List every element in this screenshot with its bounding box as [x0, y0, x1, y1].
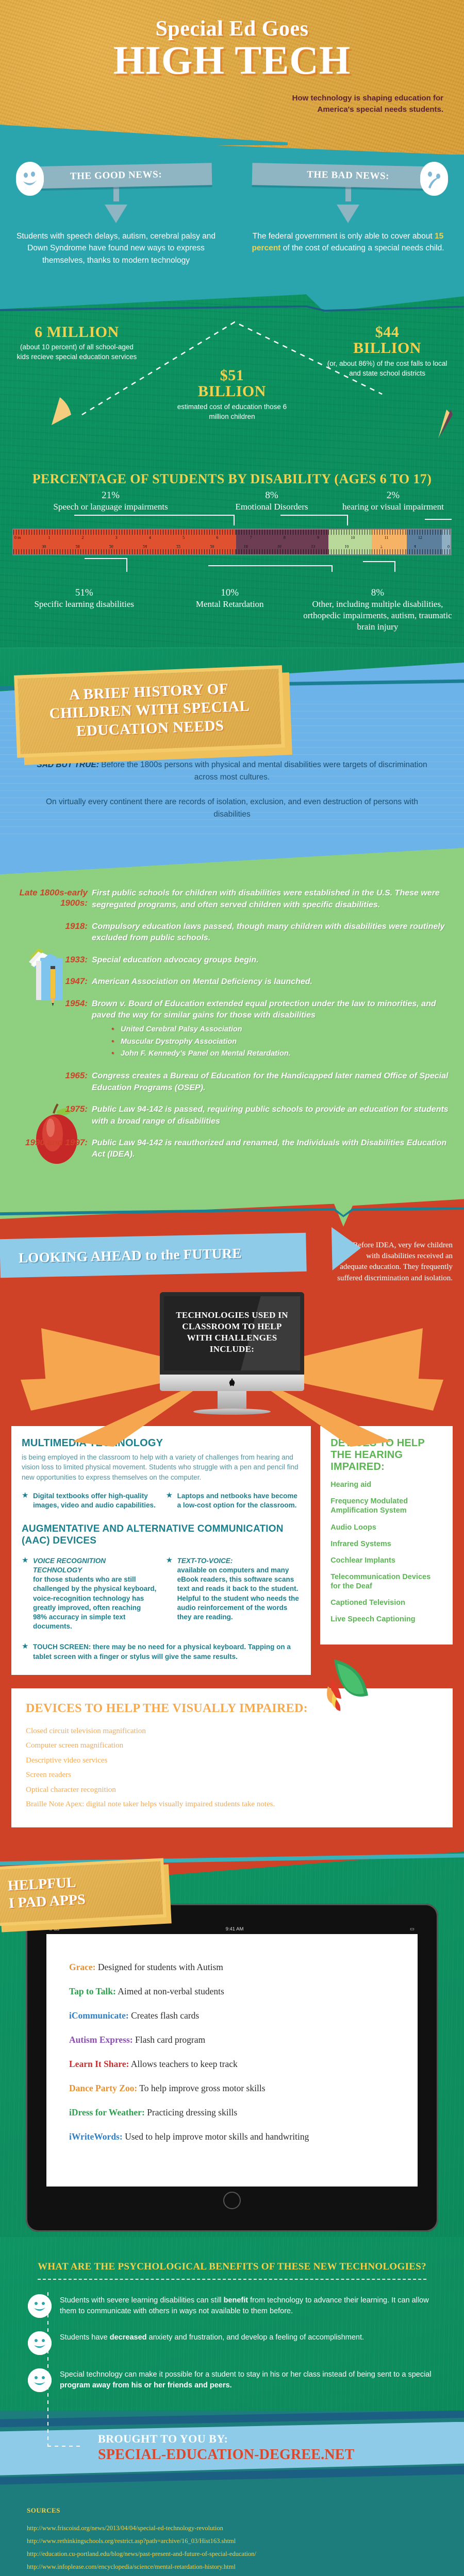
- label-hearing-visual: 2% hearing or visual impairment: [334, 490, 453, 512]
- hearing-devices-card: DEVICES TO HELP THE HEARING IMPAIRED: He…: [320, 1426, 453, 1645]
- ruler-num: 4: [148, 535, 181, 541]
- ruler-segment-emotional-disorders: [372, 530, 407, 554]
- bad-news-arrow-icon: [337, 205, 359, 223]
- ipad-plaque: HELPFUL I PAD APPS: [0, 1862, 165, 1922]
- pct-hearing-visual: 2%: [334, 490, 453, 501]
- app-desc: Practicing dressing skills: [145, 2107, 237, 2117]
- app-name: iCommunicate:: [69, 2010, 129, 2021]
- app-desc: Designed for students with Autism: [96, 1962, 223, 1972]
- timeline-subitem: United Cerebral Palsy Association: [109, 1024, 451, 1035]
- bad-news-text-before: The federal government is only able to c…: [253, 232, 435, 241]
- multimedia-bullet-text: Laptops and netbooks have become a low-c…: [177, 1492, 301, 1510]
- ruler-num: 3: [114, 535, 148, 541]
- subtitle-line-2: America's special needs students.: [0, 104, 443, 115]
- timeline-year: 1954:: [13, 998, 92, 1061]
- looking-ahead-row: LOOKING AHEAD to the FUTURE Before IDEA,…: [0, 1236, 464, 1284]
- page-subtitle: How technology is shaping education for …: [0, 93, 464, 115]
- label-specific-learning: 51% Specific learning disabilities: [11, 587, 157, 632]
- page-title-line2: HIGH TECH: [0, 41, 464, 79]
- ruler-segment-other: [407, 530, 442, 554]
- benefit-item: Special technology can make it possible …: [28, 2368, 436, 2392]
- source-item[interactable]: http://wwfinductionmodules-resources.wik…: [27, 2573, 437, 2576]
- visual-item: Closed circuit television magnification: [26, 1724, 438, 1739]
- stat-51-billion: $51 BILLION estimated cost of education …: [169, 324, 295, 456]
- timeline-subitem: John F. Kennedy's Panel on Mental Retard…: [109, 1048, 451, 1059]
- multimedia-bullet: ★ Digital textbooks offer high-quality i…: [22, 1492, 157, 1510]
- ruler-ticks-top: [328, 530, 372, 535]
- pie-chart-right: [423, 409, 459, 468]
- timeline-text: Public Law 94-142 is reauthorized and re…: [92, 1138, 451, 1161]
- name-specific-learning: Specific learning disabilities: [11, 599, 157, 610]
- ipad-status-time: 9:41 AM: [226, 1926, 244, 1932]
- ruler-ticks-top: [236, 530, 328, 535]
- visual-item: Descriptive video services: [26, 1753, 438, 1768]
- ruler-segment-hearing-visual: [442, 530, 451, 554]
- visual-item: Optical character recognition: [26, 1783, 438, 1798]
- hearing-item: Infrared Systems: [330, 1539, 442, 1549]
- ipad-plaque-front: HELPFUL I PAD APPS: [0, 1858, 167, 1926]
- ruler-num: 4: [384, 543, 417, 549]
- ruler-num: 16: [249, 543, 283, 549]
- pct-mental-retardation: 10%: [157, 587, 302, 599]
- future-top-wedge: [0, 1192, 464, 1239]
- history-paragraph-1: SAD BUT TRUE: Before the 1800s persons w…: [31, 759, 433, 784]
- ruler-num: 1: [47, 535, 80, 541]
- multimedia-lead: is being employed in the classroom to he…: [22, 1452, 301, 1482]
- ipad-apps-section: HELPFUL I PAD APPS iPad 9:41 AM ▭ Grace:…: [0, 1841, 464, 2237]
- good-news-column: THE GOOD NEWS: Students with speech dela…: [14, 165, 218, 266]
- stat-44-billion-number-1: $44: [324, 324, 451, 341]
- aac-heading: AUGMENTATIVE AND ALTERNATIVE COMMUNICATI…: [22, 1523, 301, 1547]
- timeline-item: Late 1800s-early 1900s: First public sch…: [13, 888, 451, 911]
- app-name: Grace:: [69, 1962, 96, 1972]
- disability-ruler-bar: 0 in123456789101112 30282624222018161310…: [12, 529, 452, 555]
- ruler-ticks-top: [442, 530, 451, 535]
- imac-foot: [193, 1409, 271, 1415]
- timeline-year: 1990 and 1997:: [13, 1138, 92, 1161]
- timeline-year: Late 1800s-early 1900s:: [13, 888, 92, 911]
- app-list-item: Learn It Share: Allows teachers to keep …: [69, 2059, 395, 2070]
- app-desc: Creates flash cards: [129, 2010, 200, 2021]
- brought-text: BROUGHT TO YOU BY: SPECIAL-EDUCATION-DEG…: [98, 2432, 355, 2463]
- stat-44-billion-desc: (or, about 86%) of the cost falls to loc…: [324, 359, 451, 378]
- timeline-text: Brown v. Board of Education extended equ…: [92, 998, 451, 1061]
- ruler-segment-speech-language: [236, 530, 328, 554]
- dashed-vertical-line: [47, 2292, 48, 2447]
- app-list-item: Tap to Talk: Aimed at non-verbal student…: [69, 1986, 395, 1997]
- visual-devices-card: DEVICES TO HELP THE VISUALLY IMPAIRED: C…: [11, 1688, 453, 1827]
- multimedia-bullet: ★ Laptops and netbooks have become a low…: [166, 1492, 301, 1510]
- ruler-num: 9: [316, 535, 350, 541]
- ruler-num: 0: [417, 543, 451, 549]
- ruler-num: 0 in: [13, 535, 47, 541]
- timeline-text: American Association on Mental Deficienc…: [92, 976, 451, 988]
- ruler-ticks-top: [13, 530, 236, 535]
- hearing-item: Audio Loops: [330, 1523, 442, 1532]
- ruler-numbers-top: 0 in123456789101112: [13, 535, 451, 541]
- history-paragraph-2: On virtually every continent there are r…: [31, 796, 433, 821]
- imac-screen-text: TECHNOLOGIES USED IN CLASSROOM TO HELP W…: [160, 1292, 304, 1375]
- chalkboard-stats-section: 6 MILLION (about 10 percent) of all scho…: [0, 285, 464, 648]
- ruler-ticks-top: [407, 530, 442, 535]
- timeline-item: 1918: Compulsory education laws passed, …: [13, 921, 451, 944]
- aac-bullet-title: TEXT-TO-VOICE:: [177, 1556, 301, 1566]
- star-icon: ★: [22, 1642, 29, 1661]
- app-desc: Aimed at non-verbal students: [116, 1986, 224, 1996]
- subtitle-line-1: How technology is shaping education for: [0, 93, 443, 104]
- benefit-text-bold: benefit: [224, 2296, 248, 2304]
- before-idea-note: Before IDEA, very few children with disa…: [306, 1236, 464, 1284]
- ruler-num: 18: [215, 543, 248, 549]
- stat-6-million-number: 6 MILLION: [13, 324, 140, 341]
- benefit-text: Students with severe learning disabiliti…: [60, 2294, 436, 2318]
- ruler-num: 24: [114, 543, 148, 549]
- smiley-face-icon: [16, 162, 44, 196]
- history-title-line3: EDUCATION NEEDS: [76, 717, 224, 739]
- timeline-text: Public Law 94-142 is passed, requiring p…: [92, 1104, 451, 1127]
- technology-cards: MULTIMEDIA TECHNOLOGY is being employed …: [0, 1415, 464, 1675]
- app-list-item: iDress for Weather: Practicing dressing …: [69, 2107, 395, 2118]
- app-list-item: Autism Express: Flash card program: [69, 2035, 395, 2045]
- timeline-item: 1965: Congress creates a Bureau of Educa…: [13, 1071, 451, 1094]
- pie-chart-left: [18, 394, 79, 464]
- good-news-text: Students with speech delays, autism, cer…: [14, 230, 218, 266]
- ruler-num: 10: [350, 535, 383, 541]
- star-icon: ★: [22, 1556, 29, 1632]
- ruler-numbers-bottom: 30282624222018161310740: [13, 543, 451, 549]
- imac-illustration: TECHNOLOGIES USED IN CLASSROOM TO HELP W…: [160, 1292, 304, 1415]
- app-name: Dance Party Zoo:: [69, 2083, 137, 2093]
- source-item[interactable]: http://www.infoplease.com/encyclopedia/s…: [27, 2561, 437, 2573]
- ruler-ticks-top: [372, 530, 407, 535]
- ruler-ticks-bottom: [442, 549, 451, 554]
- star-icon: ★: [166, 1556, 173, 1632]
- app-desc: Flash card program: [133, 2035, 205, 2045]
- aac-bullet: ★ VOICE RECOGNITION TECHNOLOGYfor those …: [22, 1556, 157, 1632]
- ruler-ticks-bottom: [372, 549, 407, 554]
- ruler-num: 22: [148, 543, 181, 549]
- bad-news-label: THE BAD NEWS:: [252, 163, 444, 189]
- stat-44-billion-number-2: BILLION: [324, 340, 451, 357]
- ruler-num: 6: [215, 535, 248, 541]
- timeline-text: Special education advocacy groups begin.: [92, 955, 451, 966]
- ruler-num: 7: [350, 543, 383, 549]
- hearing-item: Cochlear Implants: [330, 1556, 442, 1565]
- looking-ahead-label: LOOKING AHEAD to the FUTURE: [19, 1245, 242, 1265]
- source-item[interactable]: http://www.rethinkingschools.org/restric…: [27, 2535, 437, 2548]
- ruler-num: 2: [80, 535, 114, 541]
- top-connector-lines: [12, 512, 452, 526]
- app-desc: Allows teachers to keep track: [129, 2059, 237, 2069]
- hearing-item: Live Speech Captioning: [330, 1615, 442, 1624]
- ruler-segment-specific-learning: [13, 530, 236, 554]
- brought-brand[interactable]: SPECIAL-EDUCATION-DEGREE.NET: [98, 2447, 355, 2463]
- benefit-text: Students have decreased anxiety and frus…: [60, 2331, 364, 2344]
- visual-item: Screen readers: [26, 1768, 438, 1783]
- good-news-arrow-stem: [113, 187, 119, 201]
- timeline-item: 1947: American Association on Mental Def…: [13, 976, 451, 988]
- chalkboard-top-wedge: [0, 285, 464, 317]
- aac-bullet-title: VOICE RECOGNITION TECHNOLOGY: [33, 1556, 157, 1575]
- ruler-ticks-bottom: [236, 549, 328, 554]
- news-row: THE GOOD NEWS: Students with speech dela…: [0, 165, 464, 266]
- app-name: Learn It Share:: [69, 2059, 129, 2069]
- app-name: iDress for Weather:: [69, 2107, 145, 2117]
- multimedia-card: MULTIMEDIA TECHNOLOGY is being employed …: [11, 1426, 311, 1675]
- hearing-item: Frequency Modulated Amplification System: [330, 1497, 442, 1515]
- bad-news-column: THE BAD NEWS: The federal government is …: [246, 165, 450, 266]
- touch-screen-text: TOUCH SCREEN: there may be no need for a…: [33, 1642, 301, 1661]
- ipad-plaque-line1: HELPFUL: [7, 1874, 76, 1894]
- news-section: THE GOOD NEWS: Students with speech dela…: [0, 155, 464, 285]
- timeline-text-main: Brown v. Board of Education extended equ…: [92, 999, 436, 1020]
- timeline-sublist: United Cerebral Palsy Association Muscul…: [109, 1024, 451, 1059]
- rocket-icon: [319, 1655, 375, 1720]
- page-title-line1: Special Ed Goes: [0, 0, 464, 41]
- multimedia-bullets: ★ Digital textbooks offer high-quality i…: [22, 1492, 301, 1510]
- sources-list: http://www.friscoisd.org/news/2013/04/04…: [27, 2522, 437, 2576]
- benefits-section: WHAT ARE THE PSYCHOLOGICAL BENEFITS OF T…: [0, 2237, 464, 2411]
- imac-chin-with-apple-logo-icon: [160, 1375, 304, 1391]
- ruler-ticks-bottom: [328, 549, 372, 554]
- future-section: LOOKING AHEAD to the FUTURE Before IDEA,…: [0, 1192, 464, 1841]
- stat-51-billion-number-2: BILLION: [169, 383, 295, 400]
- ipad-device: iPad 9:41 AM ▭ Grace: Designed for stude…: [26, 1904, 438, 2232]
- timeline-year: 1965:: [13, 1071, 92, 1094]
- ipad-screen: Grace: Designed for students with Autism…: [46, 1934, 418, 2187]
- timeline-year: 1918:: [13, 921, 92, 944]
- timeline-year: 1933:: [13, 955, 92, 966]
- ruler-num: 20: [181, 543, 215, 549]
- stat-51-billion-number-1: $51: [169, 367, 295, 384]
- pct-other: 8%: [303, 587, 453, 599]
- timeline-year: 1947:: [13, 976, 92, 988]
- benefit-text-before: Students with severe learning disabiliti…: [60, 2296, 224, 2304]
- ruler-segment-mental-retardation: [328, 530, 372, 554]
- ruler-num: 5: [181, 535, 215, 541]
- hearing-item: Telecommunication Devices for the Deaf: [330, 1572, 442, 1591]
- ruler-num: 7: [249, 535, 283, 541]
- history-plaque: A BRIEF HISTORY OF CHILDREN WITH SPECIAL…: [15, 670, 284, 753]
- imac-wrapper: TECHNOLOGIES USED IN CLASSROOM TO HELP W…: [0, 1292, 464, 1415]
- app-desc: To help improve gross motor skills: [137, 2083, 265, 2093]
- benefit-text: Special technology can make it possible …: [60, 2368, 436, 2392]
- aac-bullet-body: VOICE RECOGNITION TECHNOLOGYfor those st…: [33, 1556, 157, 1632]
- label-emotional-disorders: 8% Emotional Disorders: [210, 490, 334, 512]
- app-name: iWriteWords:: [69, 2131, 123, 2142]
- touch-screen-bullet: ★ TOUCH SCREEN: there may be no need for…: [22, 1642, 301, 1661]
- bad-news-text: The federal government is only able to c…: [246, 230, 450, 255]
- ruler-num: 26: [80, 543, 114, 549]
- disability-bottom-labels: 51% Specific learning disabilities 10% M…: [0, 572, 464, 632]
- history-plaque-front: A BRIEF HISTORY OF CHILDREN WITH SPECIAL…: [14, 665, 285, 758]
- bottom-connector-lines: [12, 555, 452, 572]
- infographic-page: Special Ed Goes HIGH TECH How technology…: [0, 0, 464, 2576]
- ipad-plaque-title: HELPFUL I PAD APPS: [7, 1870, 152, 1912]
- name-mental-retardation: Mental Retardation: [157, 599, 302, 610]
- ruler-ticks-bottom: [13, 549, 236, 554]
- pct-speech-language: 21%: [11, 490, 210, 501]
- visual-list: Closed circuit television magnification …: [26, 1724, 438, 1812]
- ipad-status-bar: iPad 9:41 AM ▭: [46, 1926, 418, 1934]
- disability-top-labels: 21% Speech or language impairments 8% Em…: [0, 490, 464, 512]
- ruler-num: 11: [384, 535, 417, 541]
- app-name: Tap to Talk:: [69, 1986, 116, 1996]
- benefit-text-before: Students have: [60, 2333, 110, 2342]
- benefit-text-before: Special technology can make it possible …: [60, 2370, 432, 2379]
- timeline-item: 1954: Brown v. Board of Education extend…: [13, 998, 451, 1061]
- benefit-text-bold: program away from his or her friends and…: [60, 2381, 232, 2389]
- aac-bullet-text: available on computers and many eBook re…: [177, 1566, 299, 1621]
- pct-specific-learning: 51%: [11, 587, 157, 599]
- star-icon: ★: [166, 1492, 173, 1510]
- app-list-item: Dance Party Zoo: To help improve gross m…: [69, 2083, 395, 2094]
- visual-heading: DEVICES TO HELP THE VISUALLY IMPAIRED:: [26, 1702, 438, 1716]
- looking-ahead-arrow-icon: [333, 1232, 334, 1270]
- dashed-horizontal-line: [47, 2446, 84, 2447]
- timeline-item: 1975: Public Law 94-142 is passed, requi…: [13, 1104, 451, 1127]
- bad-news-text-after: of the cost of educating a special needs…: [280, 244, 444, 252]
- ruler-num: 10: [316, 543, 350, 549]
- timeline-items: Late 1800s-early 1900s: First public sch…: [0, 857, 464, 1160]
- ruler-num: 8: [283, 535, 316, 541]
- ruler-num: 13: [283, 543, 316, 549]
- ruler-num: 30: [13, 543, 47, 549]
- sources-heading: SOURCES: [27, 2506, 437, 2515]
- benefits-rows: Students with severe learning disabiliti…: [0, 2280, 464, 2411]
- aac-bullet-text: for those students who are still challen…: [33, 1575, 156, 1630]
- looking-ahead-banner: LOOKING AHEAD to the FUTURE: [0, 1232, 307, 1277]
- name-other: Other, including multiple disabilities, …: [303, 599, 453, 632]
- timeline-text: Compulsory education laws passed, though…: [92, 921, 451, 944]
- star-icon: ★: [22, 1492, 29, 1510]
- label-speech-language: 21% Speech or language impairments: [11, 490, 210, 512]
- ruler-num: 28: [47, 543, 80, 549]
- sad-but-true-text: Before the 1800s persons with physical a…: [99, 760, 427, 782]
- history-section: A BRIEF HISTORY OF CHILDREN WITH SPECIAL…: [0, 648, 464, 843]
- name-emotional-disorders: Emotional Disorders: [210, 501, 334, 512]
- aac-bullet-body: TEXT-TO-VOICE:available on computers and…: [177, 1556, 301, 1632]
- stat-6-million-desc: (about 10 percent) of all school-aged ki…: [13, 342, 140, 362]
- app-name: Autism Express:: [69, 2035, 133, 2045]
- sad-face-icon: [420, 162, 448, 196]
- bad-news-arrow-stem: [345, 187, 351, 201]
- disability-chart-title: PERCENTAGE OF STUDENTS BY DISABILITY (AG…: [0, 471, 464, 487]
- timeline-item: 1933: Special education advocacy groups …: [13, 955, 451, 966]
- benefit-item: Students with severe learning disabiliti…: [28, 2294, 436, 2318]
- brought-to-you-section: BROUGHT TO YOU BY: SPECIAL-EDUCATION-DEG…: [0, 2411, 464, 2488]
- visual-item: Braille Note Apex: digital note taker he…: [26, 1797, 438, 1812]
- aac-bullet: ★ TEXT-TO-VOICE:available on computers a…: [166, 1556, 301, 1632]
- label-mental-retardation: 10% Mental Retardation: [157, 587, 302, 632]
- source-item[interactable]: http://education.cu-portland.edu/blog/ne…: [27, 2548, 437, 2561]
- good-news-label: THE GOOD NEWS:: [20, 163, 212, 189]
- benefit-text-after: anxiety and frustration, and develop a f…: [147, 2333, 364, 2342]
- brought-label: BROUGHT TO YOU BY:: [98, 2432, 355, 2446]
- benefits-title: WHAT ARE THE PSYCHOLOGICAL BENEFITS OF T…: [38, 2261, 426, 2280]
- app-list-item: iWriteWords: Used to help improve motor …: [69, 2131, 395, 2142]
- hearing-item: Captioned Television: [330, 1598, 442, 1607]
- ipad-home-button[interactable]: [223, 2192, 241, 2209]
- visual-item: Computer screen magnification: [26, 1738, 438, 1753]
- sources-section: SOURCES http://www.friscoisd.org/news/20…: [0, 2488, 464, 2576]
- pct-emotional-disorders: 8%: [210, 490, 334, 501]
- app-desc: Used to help improve motor skills and ha…: [123, 2131, 309, 2142]
- timeline-text: Congress creates a Bureau of Education f…: [92, 1071, 451, 1094]
- imac-neck: [218, 1391, 246, 1409]
- timeline-text: First public schools for children with d…: [92, 888, 451, 911]
- stats-row: 6 MILLION (about 10 percent) of all scho…: [0, 317, 464, 456]
- hero-section: Special Ed Goes HIGH TECH How technology…: [0, 0, 464, 155]
- benefit-text-bold: decreased: [110, 2333, 147, 2342]
- benefit-item: Students have decreased anxiety and frus…: [28, 2331, 436, 2355]
- timeline-year: 1975:: [13, 1104, 92, 1127]
- hearing-list: Hearing aid Frequency Modulated Amplific…: [330, 1480, 442, 1624]
- ipad-plaque-line2: I PAD APPS: [8, 1891, 86, 1911]
- timeline-item: 1990 and 1997: Public Law 94-142 is reau…: [13, 1138, 451, 1161]
- timeline-section: Late 1800s-early 1900s: First public sch…: [0, 843, 464, 1191]
- name-speech-language: Speech or language impairments: [11, 501, 210, 512]
- multimedia-bullet-text: Digital textbooks offer high-quality ima…: [33, 1492, 157, 1510]
- battery-icon: ▭: [410, 1926, 415, 1932]
- app-list-item: Grace: Designed for students with Autism: [69, 1962, 395, 1973]
- stat-51-billion-desc: estimated cost of education those 6 mill…: [169, 402, 295, 421]
- hearing-item: Hearing aid: [330, 1480, 442, 1489]
- label-other: 8% Other, including multiple disabilitie…: [303, 587, 453, 632]
- aac-bullets: ★ VOICE RECOGNITION TECHNOLOGYfor those …: [22, 1556, 301, 1632]
- app-list-item: iCommunicate: Creates flash cards: [69, 2010, 395, 2021]
- source-item[interactable]: http://www.friscoisd.org/news/2013/04/04…: [27, 2522, 437, 2535]
- ruler-num: 12: [417, 535, 451, 541]
- history-title: A BRIEF HISTORY OF CHILDREN WITH SPECIAL…: [31, 679, 268, 742]
- timeline-subitem: Muscular Dystrophy Association: [109, 1037, 451, 1047]
- chalkboard-top-edge: [0, 306, 464, 313]
- name-hearing-visual: hearing or visual impairment: [334, 501, 453, 512]
- benefits-title-wrap: WHAT ARE THE PSYCHOLOGICAL BENEFITS OF T…: [0, 2256, 464, 2280]
- good-news-arrow-icon: [105, 205, 127, 223]
- ruler-ticks-bottom: [407, 549, 442, 554]
